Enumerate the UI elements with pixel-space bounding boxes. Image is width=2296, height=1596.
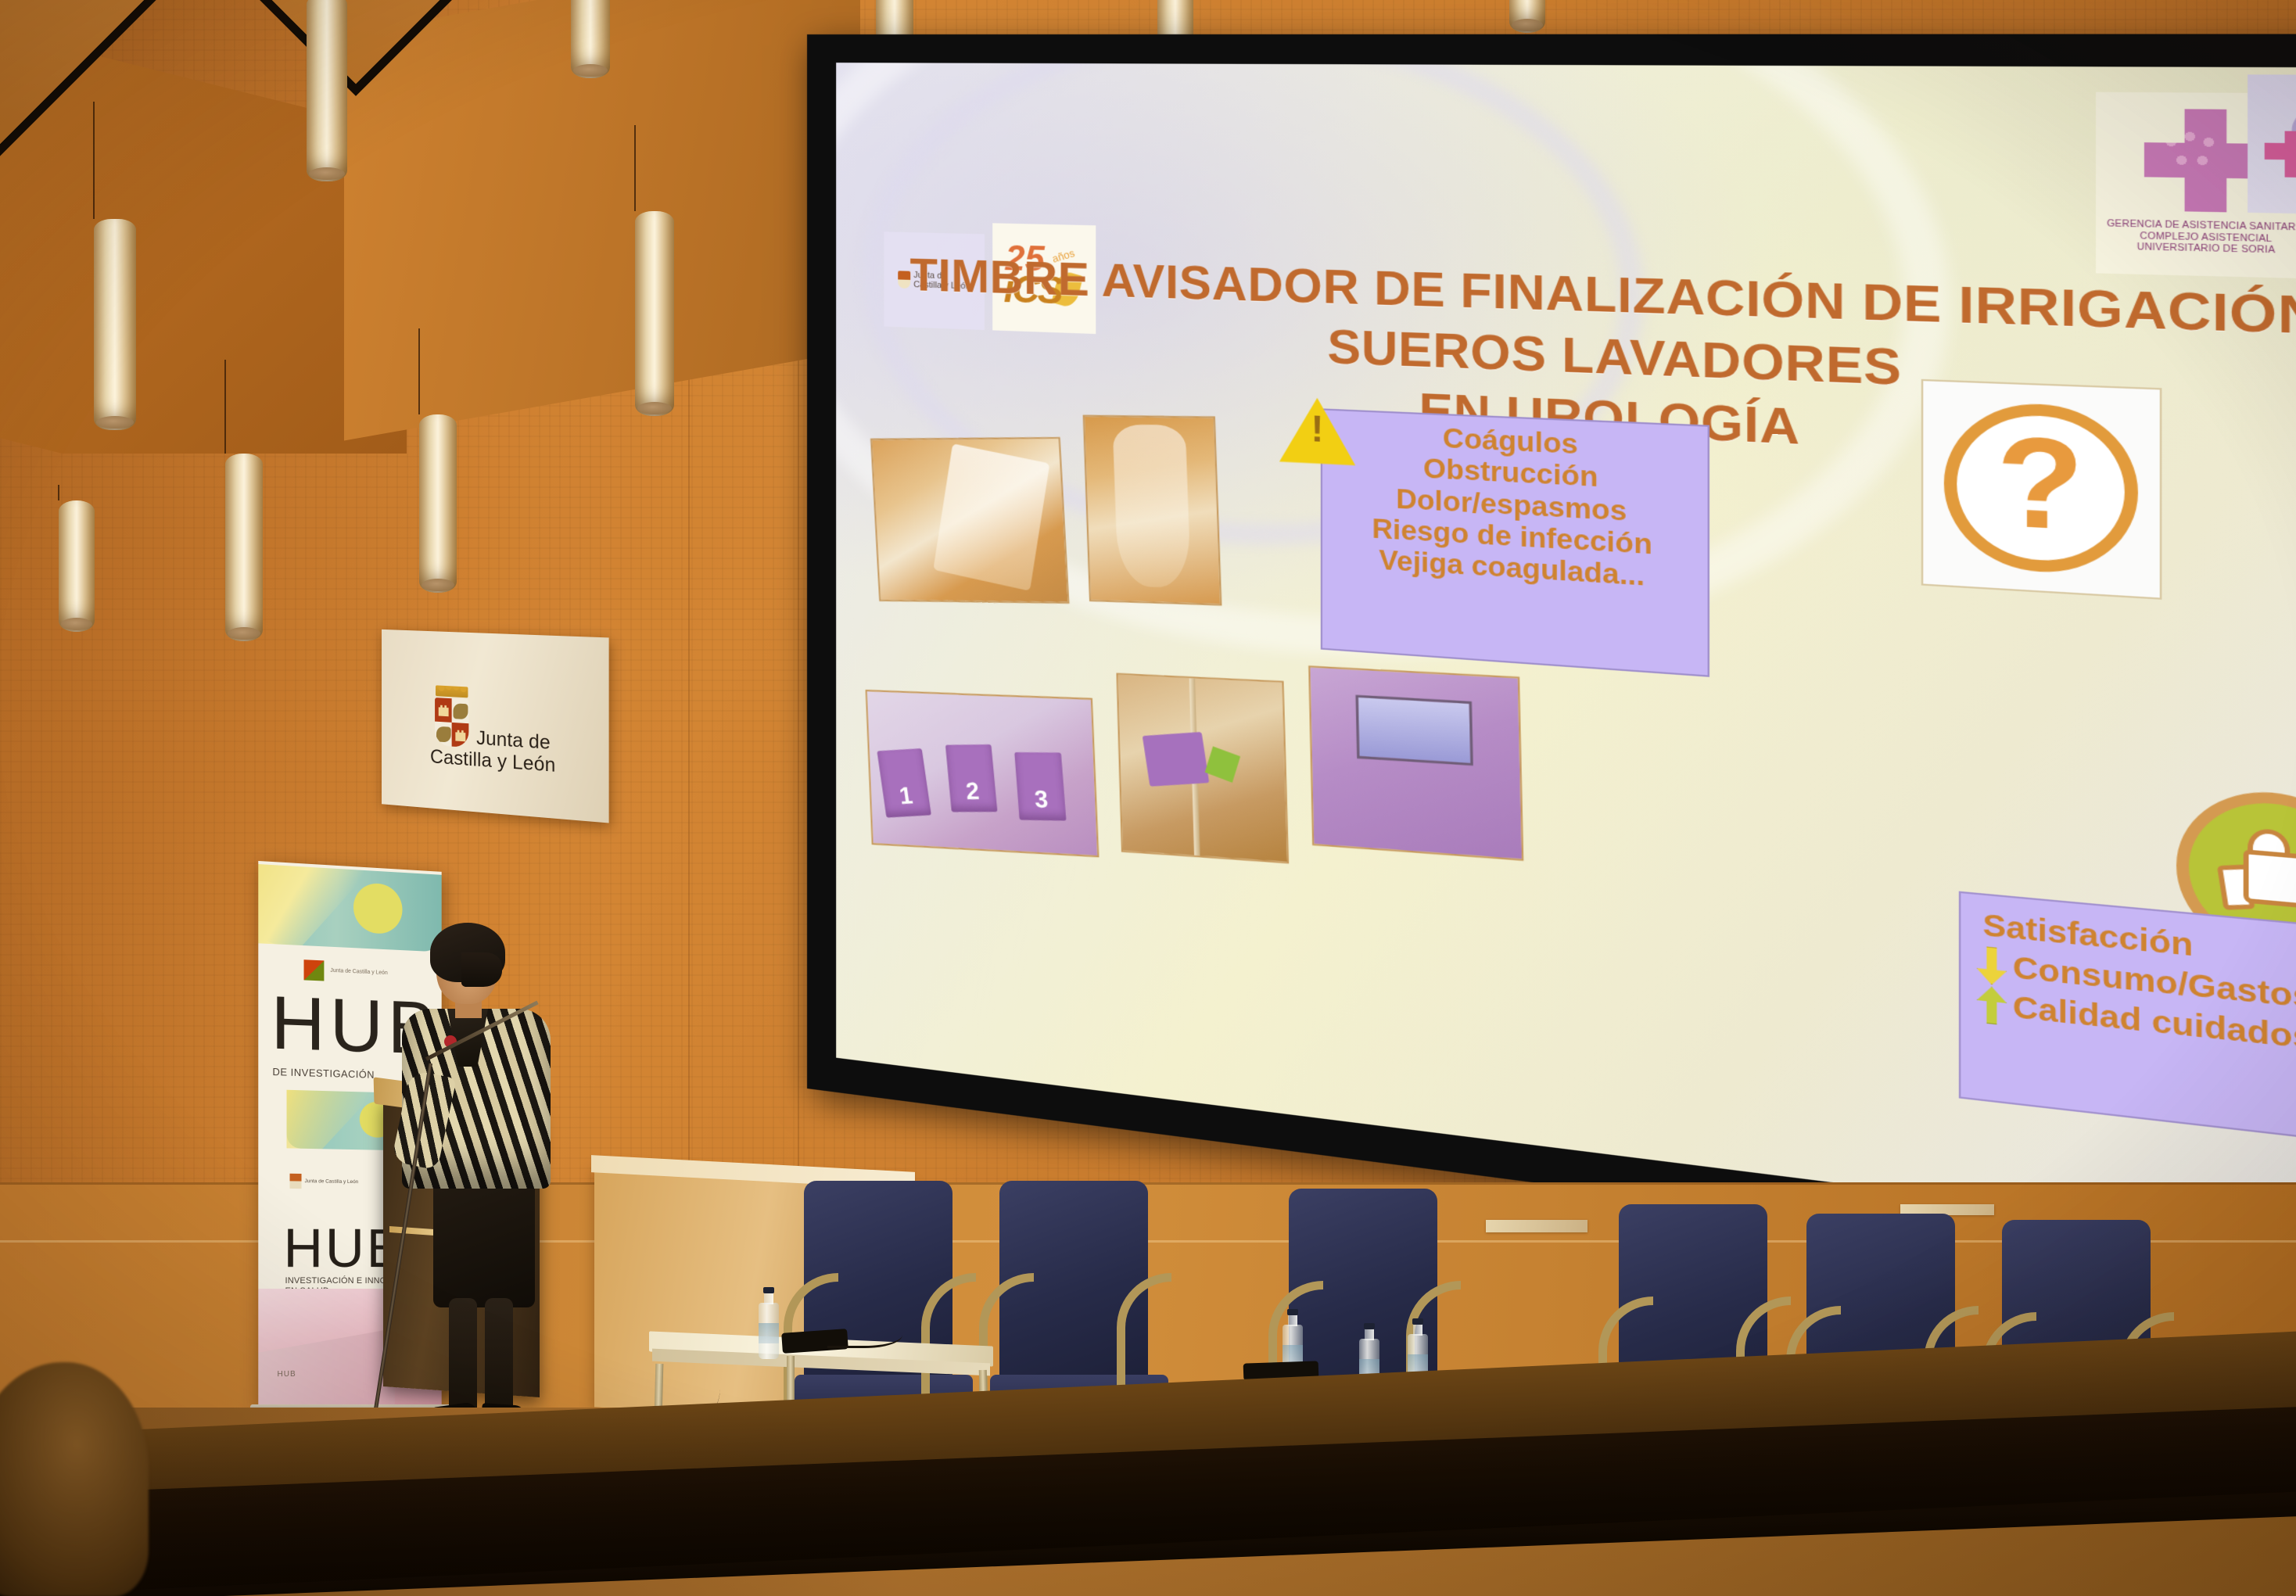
arrow-down-icon xyxy=(1977,945,2007,986)
slide-photo-sensor-units: 1 2 3 xyxy=(866,690,1100,857)
junta-wall-sign: Junta de Castilla y León xyxy=(382,629,609,823)
device-number: 1 xyxy=(877,748,931,818)
device-number: 2 xyxy=(945,744,998,812)
slide-photo-iv-pole-install xyxy=(1116,673,1289,864)
clock-question-card: ? xyxy=(1921,379,2162,600)
clock-question-icon: ? xyxy=(1944,400,2138,577)
sacyl-logo: Sacyl xyxy=(2248,74,2296,217)
banner-logo-caption: Junta de Castilla y León xyxy=(330,967,387,977)
device-number: 3 xyxy=(1014,752,1066,821)
gerencia-logo-line2: COMPLEJO ASISTENCIAL UNIVERSITARIO DE SO… xyxy=(2104,231,2296,258)
slide-photo-saline-bag xyxy=(870,437,1070,604)
audience-member-head xyxy=(0,1362,149,1596)
sacyl-mark-icon xyxy=(2265,110,2296,178)
presentation-slide: GERENCIA DE ASISTENCIA SANITARIA COMPLEJ… xyxy=(836,63,2296,1262)
wall-plaque xyxy=(1486,1220,1587,1232)
castilla-leon-coat-of-arms-icon xyxy=(435,685,468,748)
junta-shield-icon xyxy=(290,1174,302,1189)
slide-photo-drip-chamber xyxy=(1083,415,1222,606)
banner-junta-logo: Junta de Castilla y León xyxy=(290,1174,359,1189)
clock-question-symbol: ? xyxy=(1957,413,2125,565)
arrow-up-icon xyxy=(1977,985,2007,1026)
complications-box: Coágulos Obstrucción Dolor/espasmos Ries… xyxy=(1321,408,1709,677)
banner-top-logo: Junta de Castilla y León xyxy=(304,959,388,984)
water-bottle xyxy=(759,1303,779,1359)
benefits-box: Satisfacción Consumo/Gastos Calidad cuid… xyxy=(1959,891,2296,1149)
banner-logo-icon xyxy=(304,959,325,981)
cable xyxy=(827,1322,902,1348)
banner-brand-top-sub: DE INVESTIGACIÓN xyxy=(272,1066,375,1081)
controller-lcd-screen xyxy=(1355,694,1473,766)
banner-junta-caption: Junta de Castilla y León xyxy=(305,1178,359,1185)
auditorium-photo: Junta de Castilla y León GERENCIA DE ASI… xyxy=(0,0,2296,1596)
slide-photo-controller-box xyxy=(1308,665,1523,861)
